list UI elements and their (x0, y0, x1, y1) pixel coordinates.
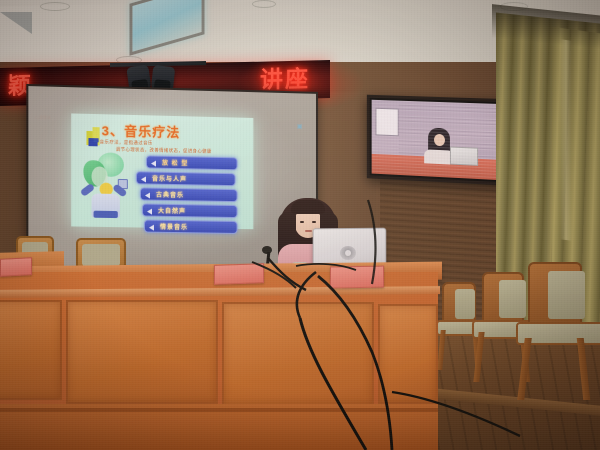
slide-bullet-icon (94, 138, 99, 142)
projection-screen: 心理健康 ▣ 3、音乐疗法 音乐疗法，是指通过音乐 调节心理状态，改善情绪状态，… (26, 84, 318, 276)
speaker-icon (150, 157, 159, 166)
slide-logo-icon (86, 127, 100, 145)
slide-list-item: 大自然声 (142, 203, 238, 218)
slide-list-item-label: 古典音乐 (156, 190, 184, 200)
led-banner-text-right: 讲座 (260, 64, 310, 93)
stage-base-line (0, 408, 438, 412)
screen-corner-note: 心理健康 (35, 115, 51, 121)
slide-list-item: 情景音乐 (144, 220, 238, 234)
speaker-icon (144, 189, 153, 198)
speaker-icon (140, 173, 149, 182)
presentation-slide: 3、音乐疗法 音乐疗法，是指通过音乐 调节心理状态，改善情绪状态，促进身心健康 … (71, 113, 253, 229)
stage-panel (66, 300, 218, 404)
ceiling-corner-shadow (0, 12, 32, 34)
wall-mounted-tv (367, 95, 514, 186)
auditorium-photo: 颖 讲座 心理健康 ▣ 3、音乐疗法 音乐疗法，是指通过音乐 调节心理状态，改善… (0, 0, 600, 450)
slide-title: 3、音乐疗法 (102, 120, 181, 141)
stage-panel (222, 302, 374, 406)
name-card (0, 257, 32, 277)
slide-list-item-label: 大自然声 (158, 206, 186, 215)
chair-near (516, 262, 596, 402)
slide-list-item: 古典音乐 (140, 187, 238, 202)
name-card (330, 266, 384, 289)
slide-illustration (79, 150, 132, 223)
stage-panel (378, 304, 438, 404)
curtain-highlight (560, 39, 572, 240)
slide-list-item: 放 松 型 (146, 155, 238, 170)
stage-panel (0, 300, 62, 400)
tv-screen (372, 100, 509, 181)
slide-list-item-label: 音乐与人声 (152, 174, 187, 184)
ceiling-fixture-icon (252, 0, 276, 8)
screen-tag-icon: ▣ (297, 123, 303, 130)
slide-list-item-label: 情景音乐 (160, 222, 188, 231)
slide-list-item-label: 放 松 型 (162, 158, 188, 168)
name-card (214, 263, 264, 285)
speaker-icon (148, 222, 157, 231)
slide-list: 放 松 型 音乐与人声 古典音乐 大自然声 情景音乐 (136, 155, 236, 237)
slide-list-item: 音乐与人声 (136, 171, 236, 186)
speaker-icon (146, 206, 155, 215)
ceiling-fixture-icon (40, 2, 70, 11)
laptop-logo-icon (340, 246, 356, 260)
slide-subtitle-line1: 音乐疗法，是指通过音乐 (100, 139, 153, 146)
